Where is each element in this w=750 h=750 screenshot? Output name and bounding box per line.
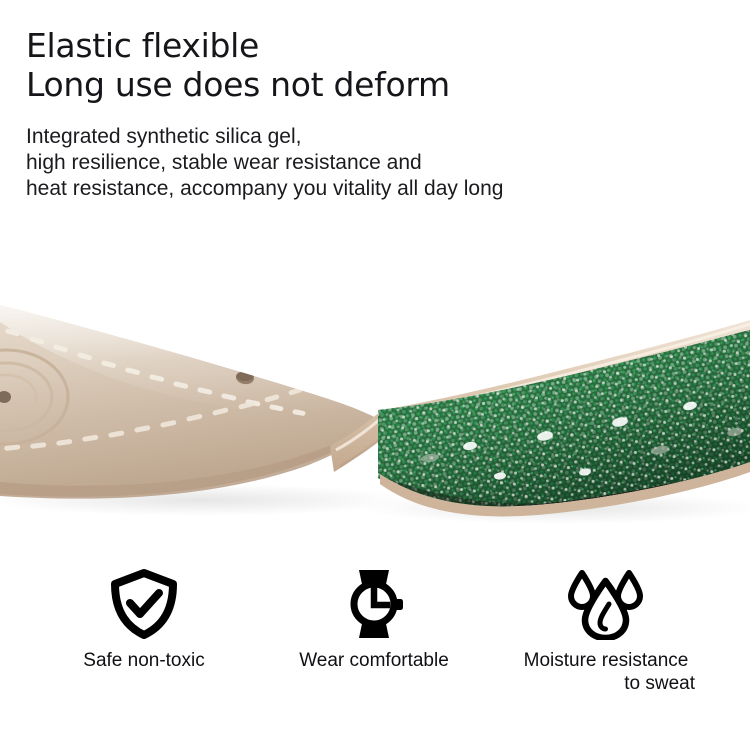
shield-check-icon <box>34 565 254 643</box>
description-line-1: Integrated synthetic silica gel, <box>26 124 726 150</box>
band-left-beige <box>0 305 380 499</box>
feature-label-moisture: Moisture resistance to sweat <box>495 649 717 695</box>
feature-label-safe: Safe non-toxic <box>34 649 254 672</box>
feature-item-safe: Safe non-toxic <box>34 565 254 672</box>
product-photo <box>0 250 750 540</box>
watch-band-illustration <box>0 250 750 540</box>
water-droplets-icon <box>495 565 717 643</box>
feature-label-comfort: Wear comfortable <box>260 649 488 672</box>
feature-item-comfort: Wear comfortable <box>260 565 488 672</box>
feature-label-safe-line1: Safe non-toxic <box>83 650 204 671</box>
feature-label-comfort-line1: Wear comfortable <box>299 650 449 671</box>
feature-item-moisture: Moisture resistance to sweat <box>495 565 717 695</box>
headline-line-2: Long use does not deform <box>26 65 716 104</box>
wristwatch-icon <box>260 565 488 643</box>
description-line-3: heat resistance, accompany you vitality … <box>26 176 726 202</box>
description-line-2: high resilience, stable wear resistance … <box>26 150 726 176</box>
feature-row: Safe non-toxic Wear comfortable <box>0 565 750 715</box>
description-block: Integrated synthetic silica gel, high re… <box>26 124 726 202</box>
product-feature-page: Elastic flexible Long use does not defor… <box>0 0 750 750</box>
feature-label-moisture-line2: to sweat <box>495 672 717 695</box>
headline-line-1: Elastic flexible <box>26 26 716 65</box>
feature-label-moisture-line1: Moisture resistance <box>524 650 689 671</box>
headline-block: Elastic flexible Long use does not defor… <box>26 26 716 104</box>
